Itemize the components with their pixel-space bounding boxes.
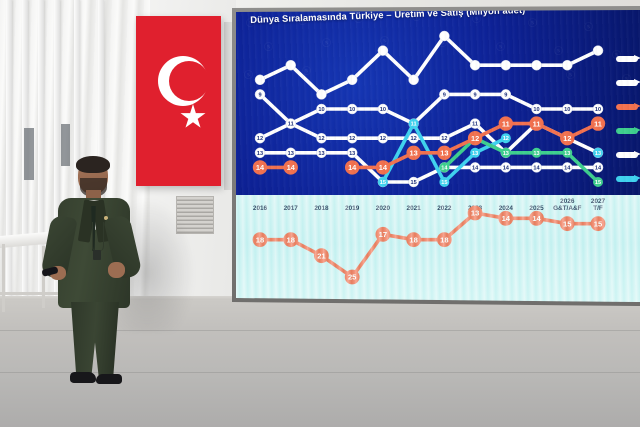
data-point-label: 12 — [441, 136, 447, 142]
data-point-label: 15 — [411, 180, 417, 186]
data-point-label: 13 — [349, 151, 355, 157]
table-leg — [2, 244, 5, 312]
data-point-label: 14 — [595, 165, 602, 171]
data-point-label: 11 — [502, 119, 510, 128]
data-point-label: 13 — [440, 148, 448, 157]
data-point-label: 11 — [594, 119, 602, 128]
data-point-label: 13 — [257, 151, 263, 157]
data-point-label: 10 — [349, 107, 355, 113]
data-point-label: 15 — [380, 180, 386, 186]
data-point-label: 13 — [503, 151, 509, 157]
legend-arrow-icon — [634, 127, 640, 133]
data-point-label: 14 — [532, 214, 541, 223]
data-point-label: 11 — [288, 122, 294, 128]
legend-arrow-icon — [634, 151, 640, 157]
data-point — [439, 31, 449, 41]
data-point-label: 18 — [256, 235, 264, 244]
data-point-label: 15 — [563, 219, 572, 228]
data-point-label: 13 — [533, 151, 539, 157]
data-point-label: 12 — [471, 134, 479, 143]
data-point-label: 9 — [474, 92, 477, 98]
legend-arrow-icon — [634, 79, 640, 85]
ranking-line-chart: 9111010101199910101012111212121212111311… — [236, 10, 640, 195]
series-line — [260, 213, 598, 277]
data-point — [378, 46, 388, 56]
badge-lanyard — [92, 222, 104, 252]
data-point — [255, 75, 265, 85]
data-point — [593, 46, 603, 56]
data-point-label: 13 — [595, 151, 601, 157]
series-line — [260, 94, 598, 123]
data-point-label: 12 — [503, 136, 509, 142]
data-point-label: 21 — [317, 251, 326, 260]
wall-slat — [6, 0, 12, 300]
name-badge — [93, 250, 101, 260]
legend-item[interactable] — [616, 80, 640, 86]
data-point-label: 13 — [564, 151, 570, 157]
data-point-label: 18 — [287, 235, 295, 244]
data-point-label: 25 — [348, 273, 357, 282]
data-point — [532, 60, 542, 70]
data-point-label: 11 — [472, 122, 478, 128]
legend-arrow-icon — [634, 103, 640, 109]
data-point-label: 10 — [318, 107, 324, 113]
data-point-label: 13 — [288, 151, 294, 157]
data-point-label: 14 — [564, 165, 571, 171]
data-point-label: 15 — [595, 180, 601, 186]
data-point-label: 10 — [533, 107, 539, 113]
data-point-label: 12 — [411, 136, 417, 142]
data-point-label: 14 — [472, 165, 479, 171]
series-line — [260, 153, 598, 182]
data-point-label: 12 — [349, 136, 355, 142]
presenter-hand-right — [108, 262, 125, 278]
data-point-label: 13 — [472, 151, 478, 157]
data-point-label: 14 — [502, 214, 511, 223]
legend-item[interactable] — [616, 104, 640, 110]
data-point — [562, 60, 572, 70]
data-point — [316, 89, 326, 99]
legend-arrow-icon — [634, 55, 640, 61]
data-point-label: 18 — [409, 235, 417, 244]
series-line — [260, 36, 598, 94]
data-point-label: 9 — [443, 92, 446, 98]
data-point-label: 11 — [533, 119, 541, 128]
data-point — [501, 60, 511, 70]
data-point-label: 12 — [318, 136, 324, 142]
data-point-label: 13 — [318, 151, 324, 157]
data-point-label: 13 — [410, 148, 418, 157]
presenter — [48, 158, 158, 390]
data-point-label: 11 — [411, 122, 417, 128]
data-point-label: 12 — [257, 136, 263, 142]
legend-item[interactable] — [616, 176, 640, 182]
wall-dark-gap — [24, 128, 34, 180]
data-point-label: 18 — [440, 235, 448, 244]
data-point — [286, 60, 296, 70]
data-point-label: 10 — [380, 107, 386, 113]
data-point-label: 15 — [594, 219, 603, 228]
data-point-label: 14 — [287, 163, 296, 172]
data-point — [470, 60, 480, 70]
data-point-label: 9 — [258, 92, 261, 98]
data-point-label: 14 — [441, 165, 448, 171]
sales-line-chart: 181821251718181314141515 — [236, 195, 640, 303]
data-point-label: 14 — [348, 163, 357, 172]
data-point-label: 14 — [533, 165, 540, 171]
legend-item[interactable] — [616, 56, 640, 62]
data-point-label: 13 — [471, 209, 479, 218]
presentation-screen[interactable]: ⓢⓢⓢⓢⓢⓢⓢⓢⓢⓢⓢⓢⓢⓢⓢⓢⓢⓢ Dünya Sıralamasında T… — [236, 10, 640, 303]
data-point-label: 9 — [504, 92, 507, 98]
legend-item[interactable] — [616, 152, 640, 158]
data-point-label: 10 — [595, 107, 601, 113]
crescent-cutout — [169, 61, 209, 101]
data-point-label: 12 — [380, 136, 386, 142]
data-point-label: 12 — [563, 134, 571, 143]
data-point — [347, 75, 357, 85]
data-point — [409, 75, 419, 85]
data-point-label: 10 — [564, 107, 570, 113]
data-point-label: 14 — [256, 163, 265, 172]
star-icon — [180, 104, 206, 130]
presenter-trousers — [70, 302, 120, 380]
presenter-hair — [76, 156, 110, 173]
data-point-label: 15 — [441, 180, 447, 186]
presenter-shoe-right — [96, 374, 122, 384]
legend-item[interactable] — [616, 128, 640, 134]
presentation-photo: ⓢⓢⓢⓢⓢⓢⓢⓢⓢⓢⓢⓢⓢⓢⓢⓢⓢⓢ Dünya Sıralamasında T… — [0, 0, 640, 427]
data-point-label: 14 — [503, 165, 510, 171]
series-line — [352, 124, 598, 168]
legend-arrow-icon — [634, 175, 640, 181]
data-point-label: 14 — [379, 163, 388, 172]
data-point-label: 17 — [379, 230, 387, 239]
presenter-shoe-left — [70, 372, 96, 383]
